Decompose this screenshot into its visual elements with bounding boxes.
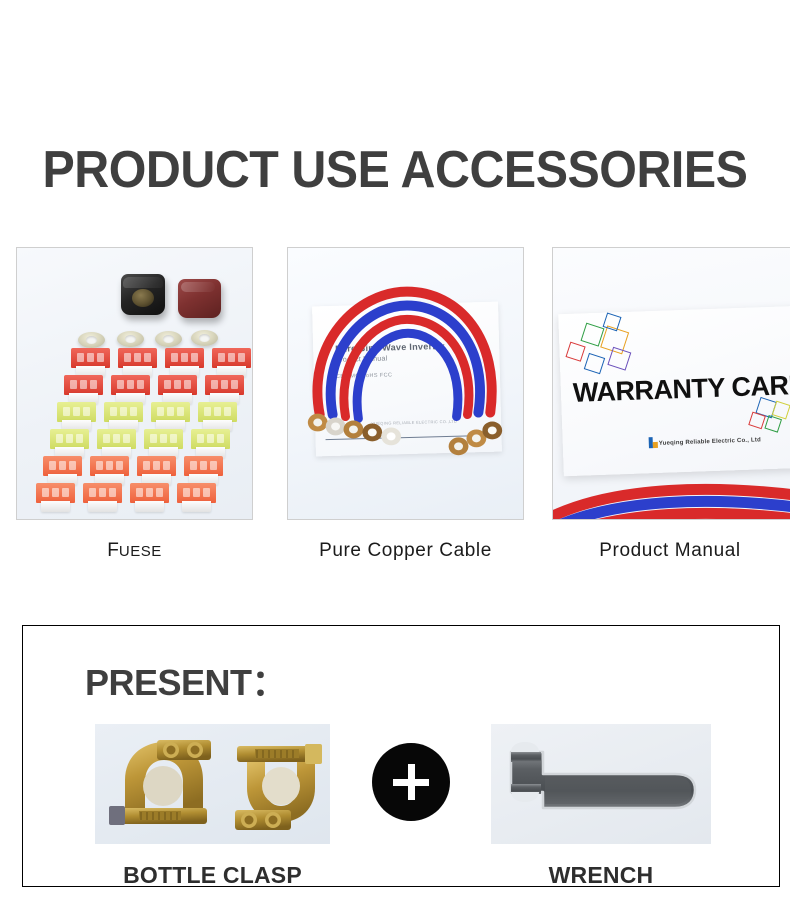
fuse-icon [64,375,103,395]
decor-square-icon [748,412,766,430]
washer-icon [78,332,105,348]
fuse-icon [144,429,183,449]
present-item-label-wrench: WRENCH [491,862,711,889]
fuse-icon [57,402,96,422]
present-item-bottle-clasp: BOTTLE CLASP [95,724,330,889]
fuse-icon [90,456,129,476]
copper-cable-photo: Pure Sine Wave Inverter Product Manual C… [287,247,524,520]
fuse-icon [165,348,204,368]
fuse-icon [198,402,237,422]
washer-icon [191,330,218,346]
decor-square-icon [584,353,605,374]
decor-square-icon [565,342,585,362]
cable-bundle-icon [288,248,523,519]
fuse-icon [137,456,176,476]
fuse-icon [130,483,169,503]
fuse-icon [104,402,143,422]
wrench-icon [491,724,711,844]
decor-square-icon [764,415,782,433]
fuse-icon [97,429,136,449]
product-caption-copper-cable: Pure Copper Cable [287,540,524,562]
product-row: FUESE Pure Sine Wave Inverter Product Ma… [0,247,790,577]
fuse-assortment-photo [16,247,253,520]
washer-icon [117,331,144,347]
company-logo-icon [649,437,658,448]
terminal-cap-black-icon [121,274,165,315]
warranty-card: WARRANTY CARD Yueqing Reliable Electric … [558,306,790,476]
fuse-icon [177,483,216,503]
washer-icon [155,331,182,347]
fuse-icon [118,348,157,368]
fuse-icon [158,375,197,395]
page-title: PRODUCT USE ACCESSORIES [28,141,763,199]
company-name: Yueqing Reliable Electric Co., Ltd [659,437,761,447]
warranty-card-heading: WARRANTY CARD [572,370,790,409]
fuse-icon [83,483,122,503]
fuse-icon [212,348,251,368]
battery-clamp-icon [95,724,330,844]
present-item-wrench: WRENCH [491,724,711,889]
fuse-icon [36,483,75,503]
warranty-card-photo: WARRANTY CARD Yueqing Reliable Electric … [552,247,790,520]
battery-terminal-clamp-photo [95,724,330,844]
caption-lead: F [107,540,119,561]
plus-icon [372,743,450,821]
caption-rest: UESE [119,543,162,560]
open-end-wrench-photo [491,724,711,844]
decor-square-icon [607,347,631,371]
fuse-icon [43,456,82,476]
terminal-cap-maroon-icon [178,279,221,318]
cable-bundle-icon [552,477,790,520]
fuse-icon [151,402,190,422]
present-item-label-bottle-clasp: BOTTLE CLASP [95,862,330,889]
fuse-icon [205,375,244,395]
present-heading: PRESENT： [85,654,287,706]
fuse-icon [111,375,150,395]
fuse-grid [23,348,253,518]
fuse-icon [184,456,223,476]
product-cell-product-manual: WARRANTY CARD Yueqing Reliable Electric … [552,247,790,562]
fuse-icon [191,429,230,449]
product-caption-product-manual: Product Manual [538,540,790,562]
fuse-icon [71,348,110,368]
fuse-icon [50,429,89,449]
product-cell-fuese: FUESE [16,247,253,562]
product-cell-copper-cable: Pure Sine Wave Inverter Product Manual C… [287,247,524,562]
product-caption-fuese: FUESE [16,540,253,562]
